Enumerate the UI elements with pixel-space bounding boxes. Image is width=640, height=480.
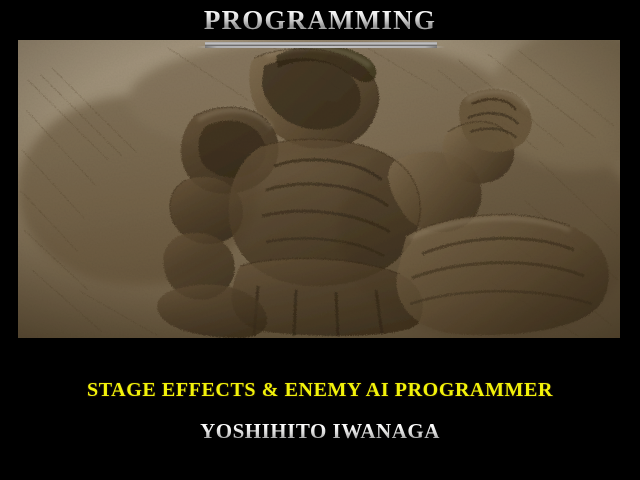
armored-warrior-sketch [18,40,620,338]
title-divider [205,42,437,48]
artwork-panel [18,40,620,338]
credit-role-label: STAGE EFFECTS & ENEMY AI PROGRAMMER [0,379,640,402]
page-title: PROGRAMMING [0,5,640,35]
title-bar: PROGRAMMING PROGRAMMING [0,0,640,40]
credits-screen: PROGRAMMING PROGRAMMING LEAD PROGRAMMER … [0,0,640,480]
credit-name-label: YOSHIHITO IWANAGA [0,419,640,444]
